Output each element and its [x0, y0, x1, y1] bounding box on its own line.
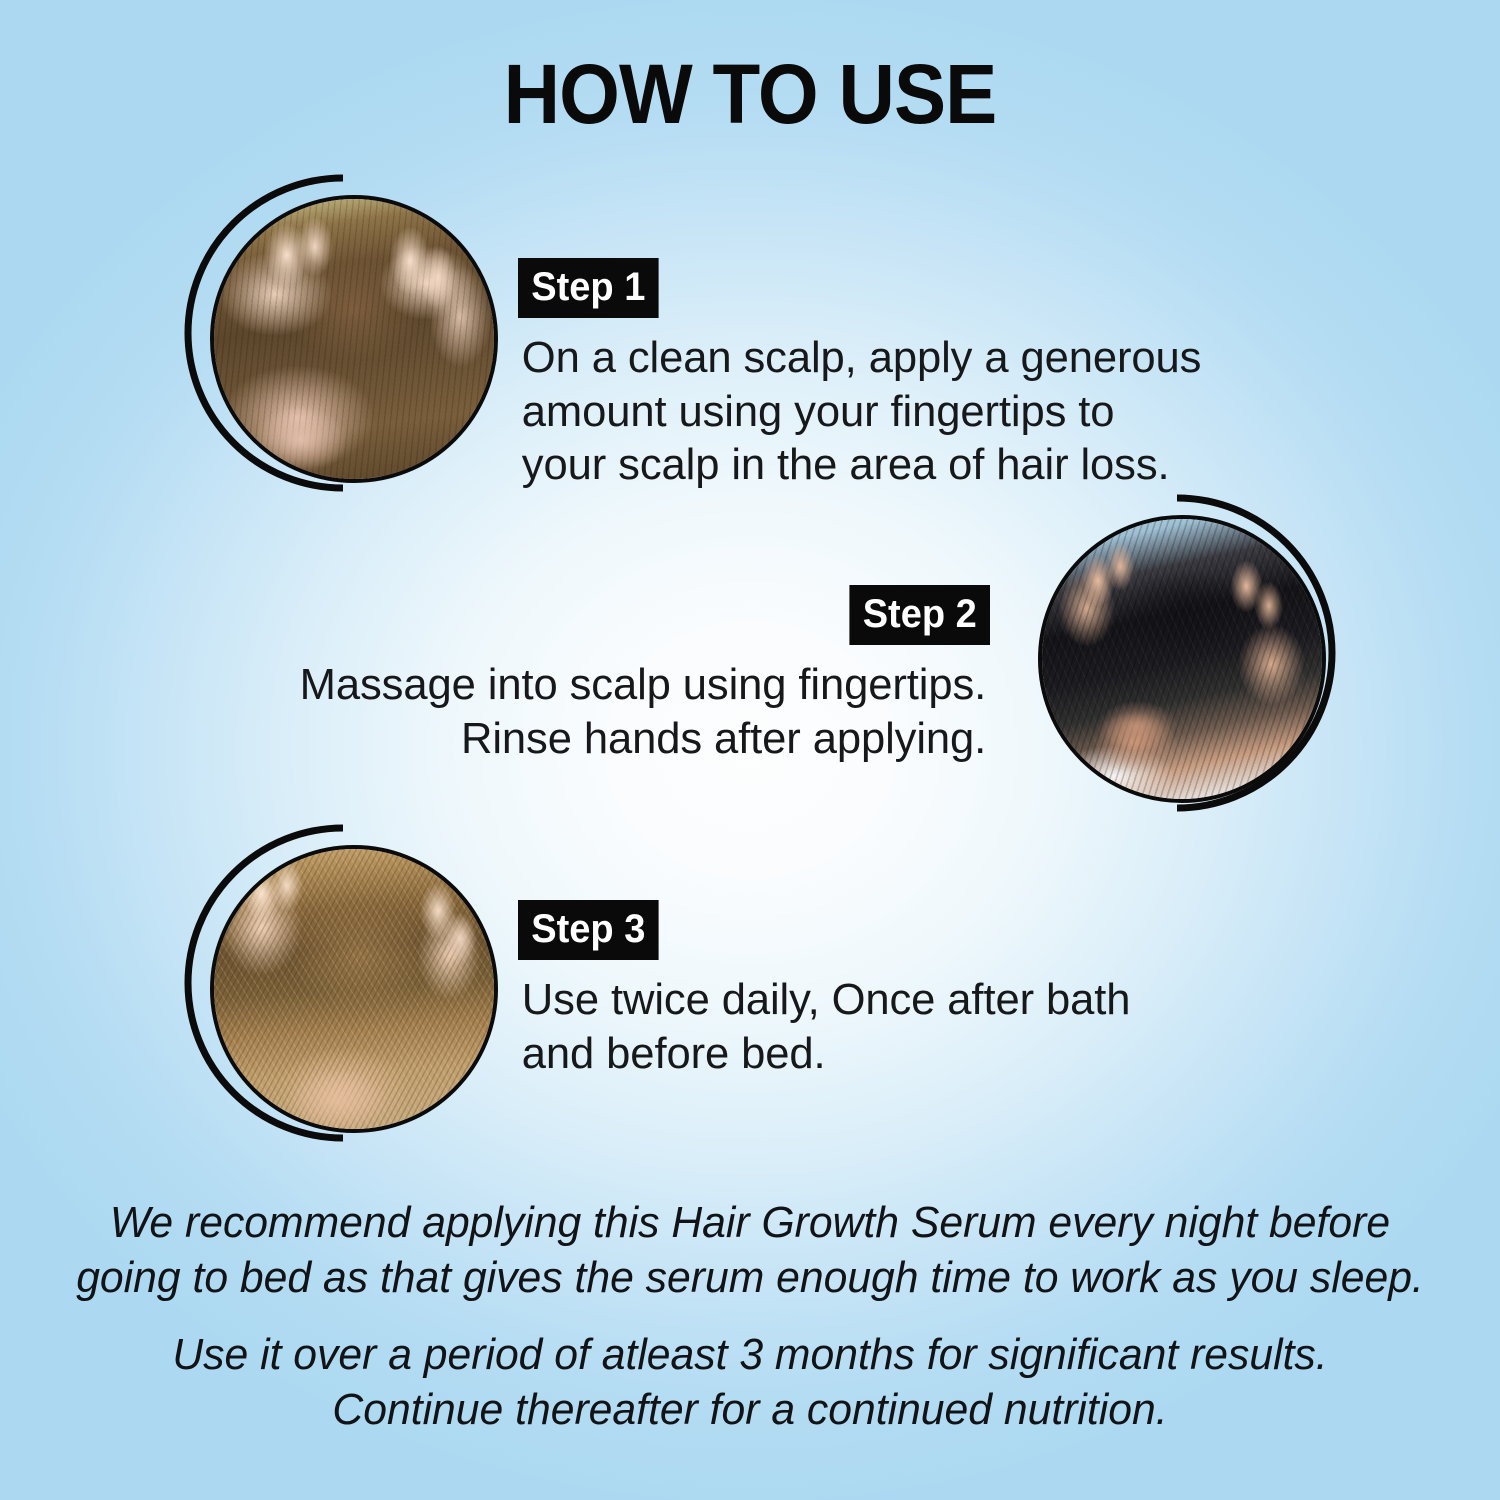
- step-3-block: Step 3 Use twice daily, Once after bath …: [518, 900, 1278, 1080]
- step-3-badge: Step 3: [518, 900, 659, 960]
- page-title: HOW TO USE: [53, 52, 1448, 136]
- step-1-photo: [210, 195, 498, 483]
- footer-duration-text: Use it over a period of atleast 3 months…: [23, 1328, 1478, 1437]
- wet-blonde-hair-massage-photo: [214, 849, 494, 1129]
- step-1-text: On a clean scalp, apply a generous amoun…: [522, 331, 1274, 492]
- woman-parting-hair-photo: [214, 199, 494, 479]
- step-1-badge: Step 1: [518, 258, 659, 318]
- step-2-text: Massage into scalp using fingertips. Rin…: [234, 658, 986, 765]
- step-2-badge: Step 2: [849, 585, 990, 645]
- step-2-block: Step 2 Massage into scalp using fingerti…: [230, 585, 990, 765]
- step-2-image-frame: [1022, 488, 1352, 818]
- how-to-use-poster: HOW TO USE Step 1 On a clean scalp, appl…: [0, 0, 1500, 1500]
- step-2-photo: [1038, 515, 1326, 803]
- step-3-photo: [210, 845, 498, 1133]
- man-massaging-scalp-photo: [1042, 519, 1322, 799]
- step-3-image-frame: [168, 818, 498, 1148]
- step-1-image-frame: [168, 168, 498, 498]
- footer-recommendation-text: We recommend applying this Hair Growth S…: [23, 1196, 1478, 1305]
- step-1-block: Step 1 On a clean scalp, apply a generou…: [518, 258, 1278, 492]
- step-3-text: Use twice daily, Once after bath and bef…: [522, 973, 1274, 1080]
